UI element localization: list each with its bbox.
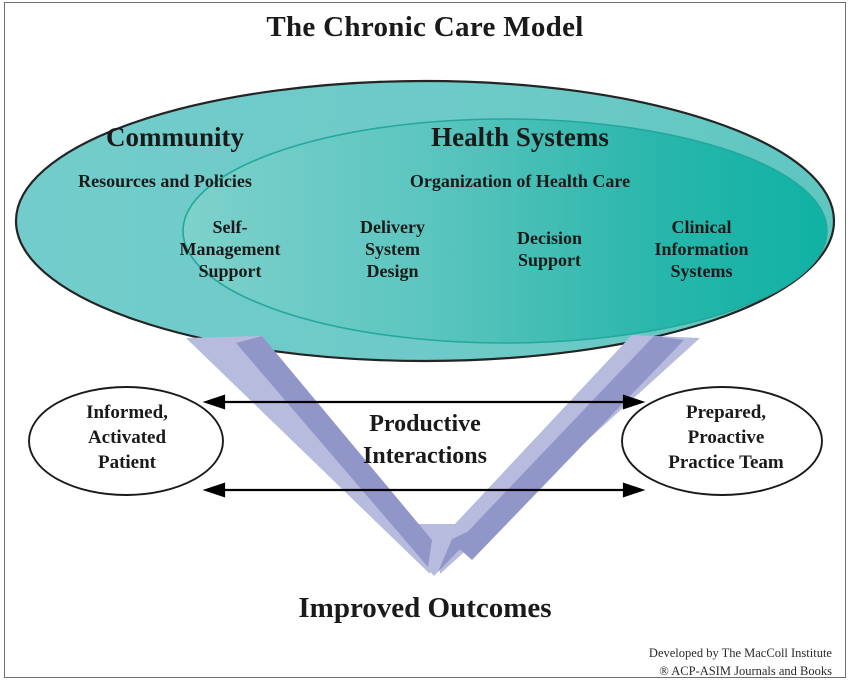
pillar-delivery-system-design: Delivery System Design [330,217,455,283]
page-title: The Chronic Care Model [0,12,850,43]
prepared-proactive-team-label: Prepared, Proactive Practice Team [628,400,824,475]
informed-activated-patient-label: Informed, Activated Patient [38,400,216,475]
community-subheading: Resources and Policies [30,172,300,191]
productive-interactions-label: Productive Interactions [300,408,550,473]
credits-text: Developed by The MacColl Institute ® ACP… [412,644,832,680]
diagram-graphics [0,0,850,688]
health-systems-subheading: Organization of Health Care [350,172,690,191]
pillar-clinical-information-systems: Clinical Information Systems [634,217,769,283]
health-systems-heading: Health Systems [370,123,670,152]
pillar-decision-support: Decision Support [487,228,612,272]
community-heading: Community [60,123,290,152]
pillar-self-management-support: Self- Management Support [165,217,295,283]
chronic-care-model-diagram: The Chronic Care Model Community Resourc… [0,0,850,688]
interaction-arrow-bottom [206,484,642,496]
improved-outcomes-label: Improved Outcomes [0,593,850,624]
